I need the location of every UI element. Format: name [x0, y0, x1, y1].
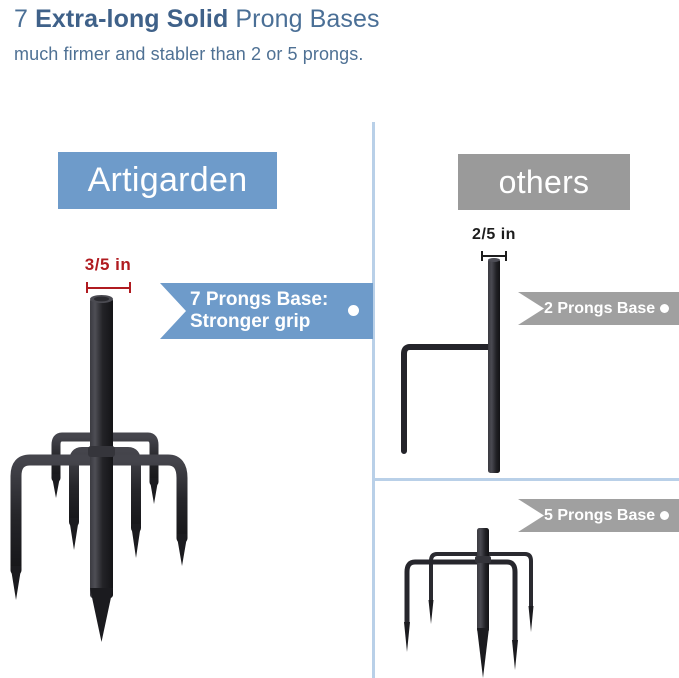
- callout-ribbon-2-prong-label: 2 Prongs Base: [544, 299, 660, 318]
- page-title-lead: 7: [14, 5, 35, 33]
- callout-ribbon-5-prong: 5 Prongs Base: [518, 499, 679, 532]
- bullet-dot-icon: [348, 305, 359, 316]
- five-prong-diagram: [385, 528, 585, 678]
- product-comparison-infographic: 7 Extra-long Solid Prong Bases much firm…: [0, 0, 679, 678]
- callout-ribbon-2-prong: 2 Prongs Base: [518, 292, 679, 325]
- brand-label-text: Artigarden: [88, 161, 248, 200]
- callout-ribbon-7-prong: 7 Prongs Base: Stronger grip: [160, 283, 373, 339]
- dimension-value-right: 2/5 in: [446, 227, 542, 243]
- bullet-dot-icon: [660, 304, 669, 313]
- bullet-dot-icon: [660, 511, 669, 520]
- vertical-divider: [372, 122, 375, 678]
- callout-ribbon-5-prong-label: 5 Prongs Base: [544, 506, 660, 525]
- brand-label-others: others: [458, 154, 630, 210]
- others-label-text: others: [499, 164, 590, 201]
- page-subtitle: much firmer and stabler than 2 or 5 pron…: [14, 42, 363, 66]
- page-title-emphasis: Extra-long Solid: [35, 5, 228, 33]
- product-image-2-prong: [400, 255, 520, 480]
- two-prong-diagram: [400, 255, 520, 480]
- page-title: 7 Extra-long Solid Prong Bases: [14, 4, 380, 34]
- page-title-tail: Prong Bases: [228, 5, 379, 33]
- product-image-5-prong: [385, 528, 585, 678]
- callout-ribbon-7-prong-label: 7 Prongs Base: Stronger grip: [190, 289, 348, 333]
- brand-label-artigarden: Artigarden: [58, 152, 277, 209]
